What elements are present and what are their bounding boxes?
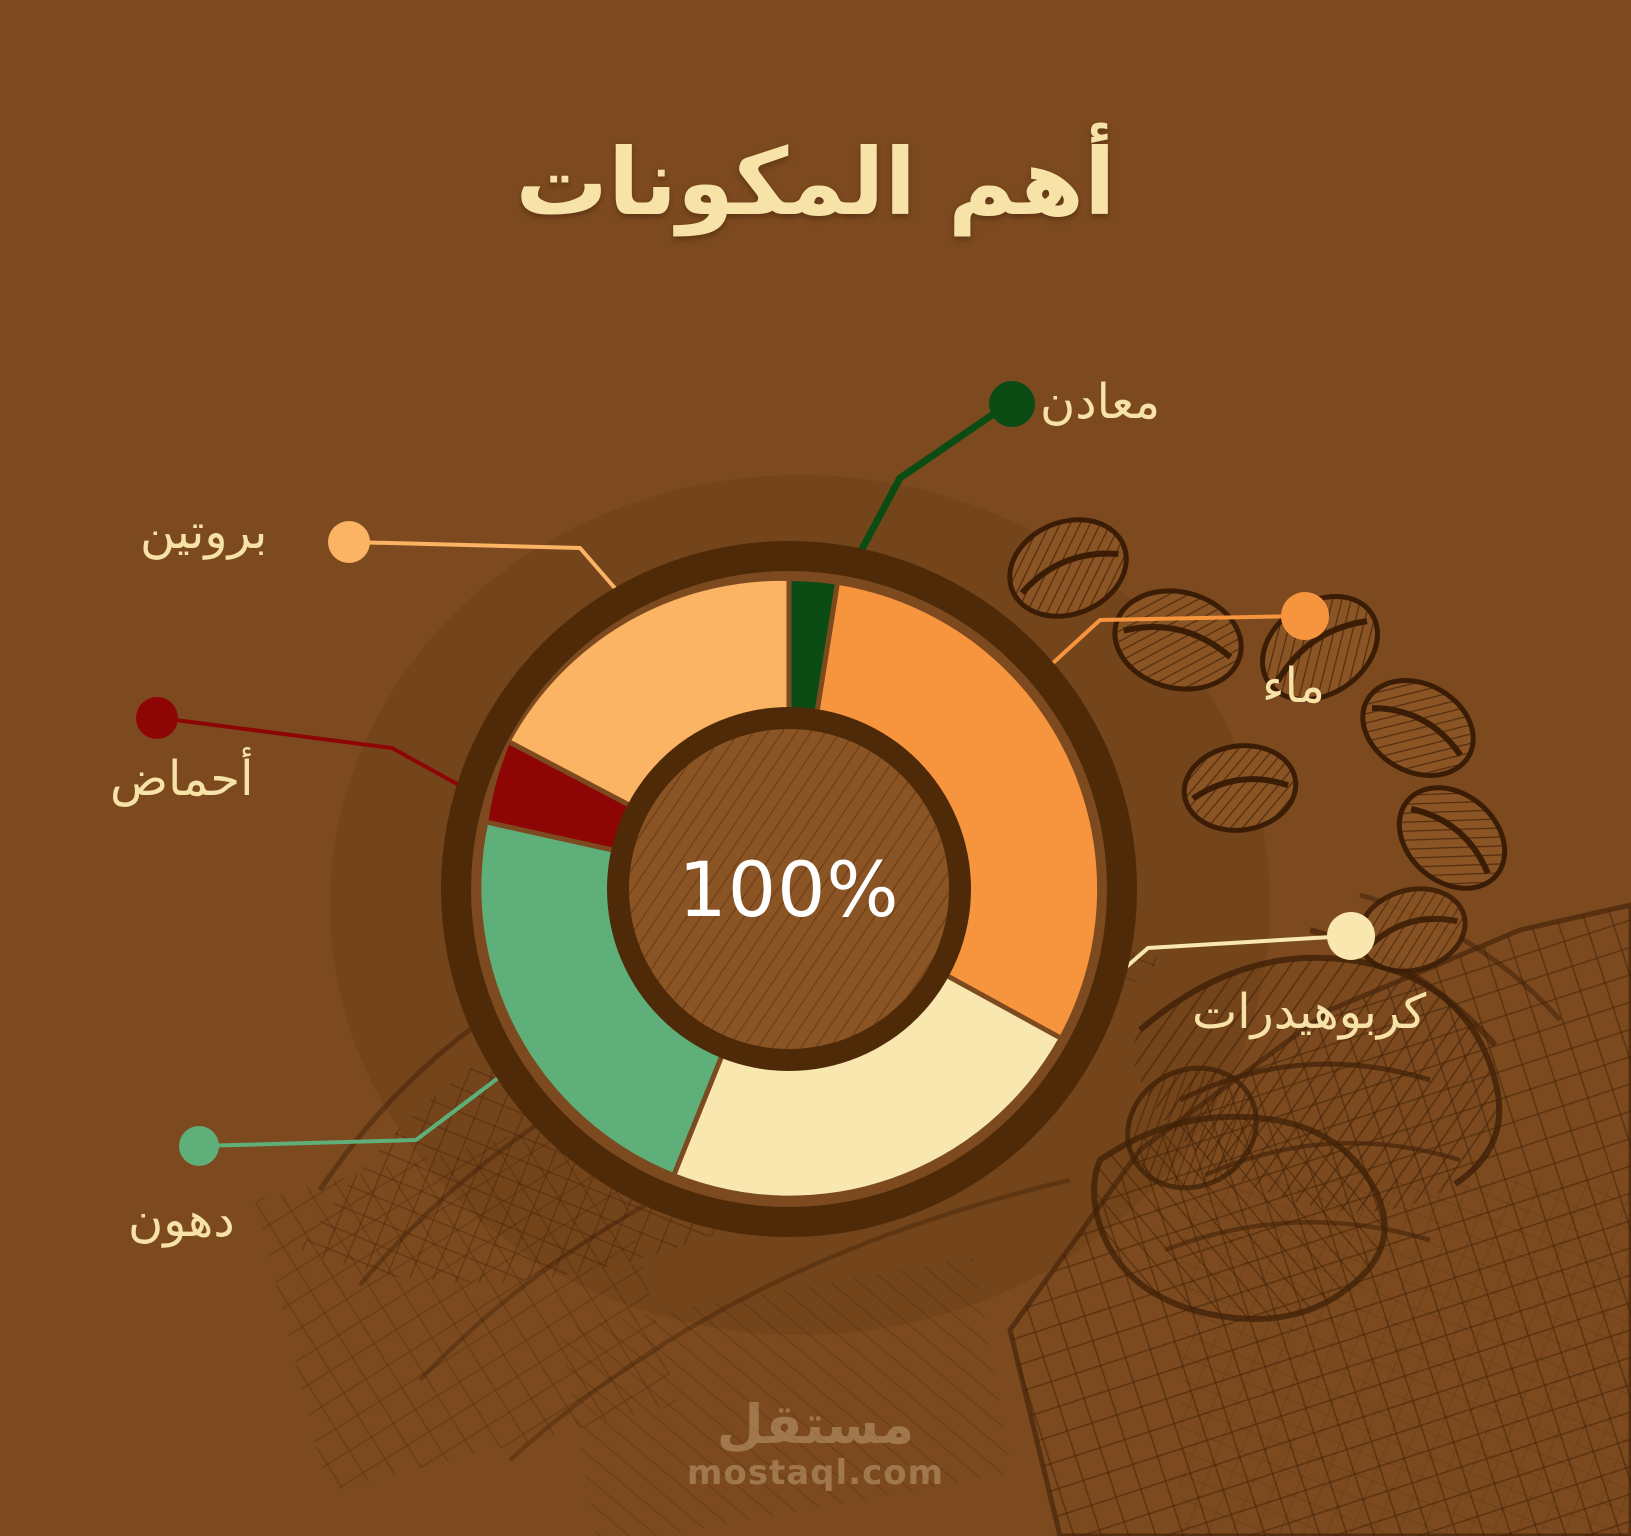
donut-chart: 100% xyxy=(436,536,1142,1242)
callout-label-water: ماء xyxy=(1262,662,1325,710)
callout-dot-water[interactable] xyxy=(1281,592,1329,640)
callout-label-acids: أحماض xyxy=(110,755,253,803)
donut-core-texture xyxy=(629,729,949,1049)
callout-dot-minerals[interactable] xyxy=(989,381,1035,427)
callout-label-fats: دهون xyxy=(128,1196,235,1244)
callout-label-protein: بروتين xyxy=(140,508,267,556)
callout-dot-protein[interactable] xyxy=(328,521,370,563)
callout-dot-acids[interactable] xyxy=(136,697,178,739)
callout-label-minerals: معادن xyxy=(1040,378,1160,426)
callout-dot-carbs[interactable] xyxy=(1327,912,1375,960)
infographic-canvas: أهم المكونات xyxy=(0,0,1631,1536)
callout-label-carbs: كربوهيدرات xyxy=(1192,988,1426,1036)
callout-dot-fats[interactable] xyxy=(179,1126,219,1166)
